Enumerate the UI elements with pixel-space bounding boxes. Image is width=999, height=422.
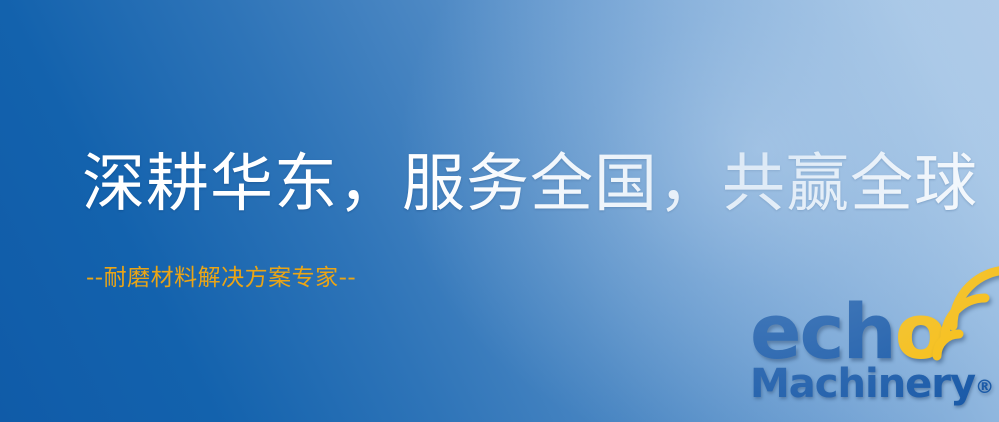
registered-trademark-symbol: ® xyxy=(975,376,994,398)
echo-machinery-logo: echo Machinery® xyxy=(742,292,999,422)
logo-wordmark-machinery: Machinery® xyxy=(750,364,994,404)
logo-text-machinery: Machinery xyxy=(750,361,975,407)
promotional-banner: 深耕华东，服务全国，共赢全球 --耐磨材料解决方案专家-- echo Machi… xyxy=(0,0,999,422)
banner-subtitle: --耐磨材料解决方案专家-- xyxy=(86,267,356,290)
signal-waves-icon xyxy=(927,294,999,366)
logo-wordmark-echo: echo xyxy=(750,294,945,370)
banner-headline: 深耕华东，服务全国，共赢全球 xyxy=(82,153,978,216)
